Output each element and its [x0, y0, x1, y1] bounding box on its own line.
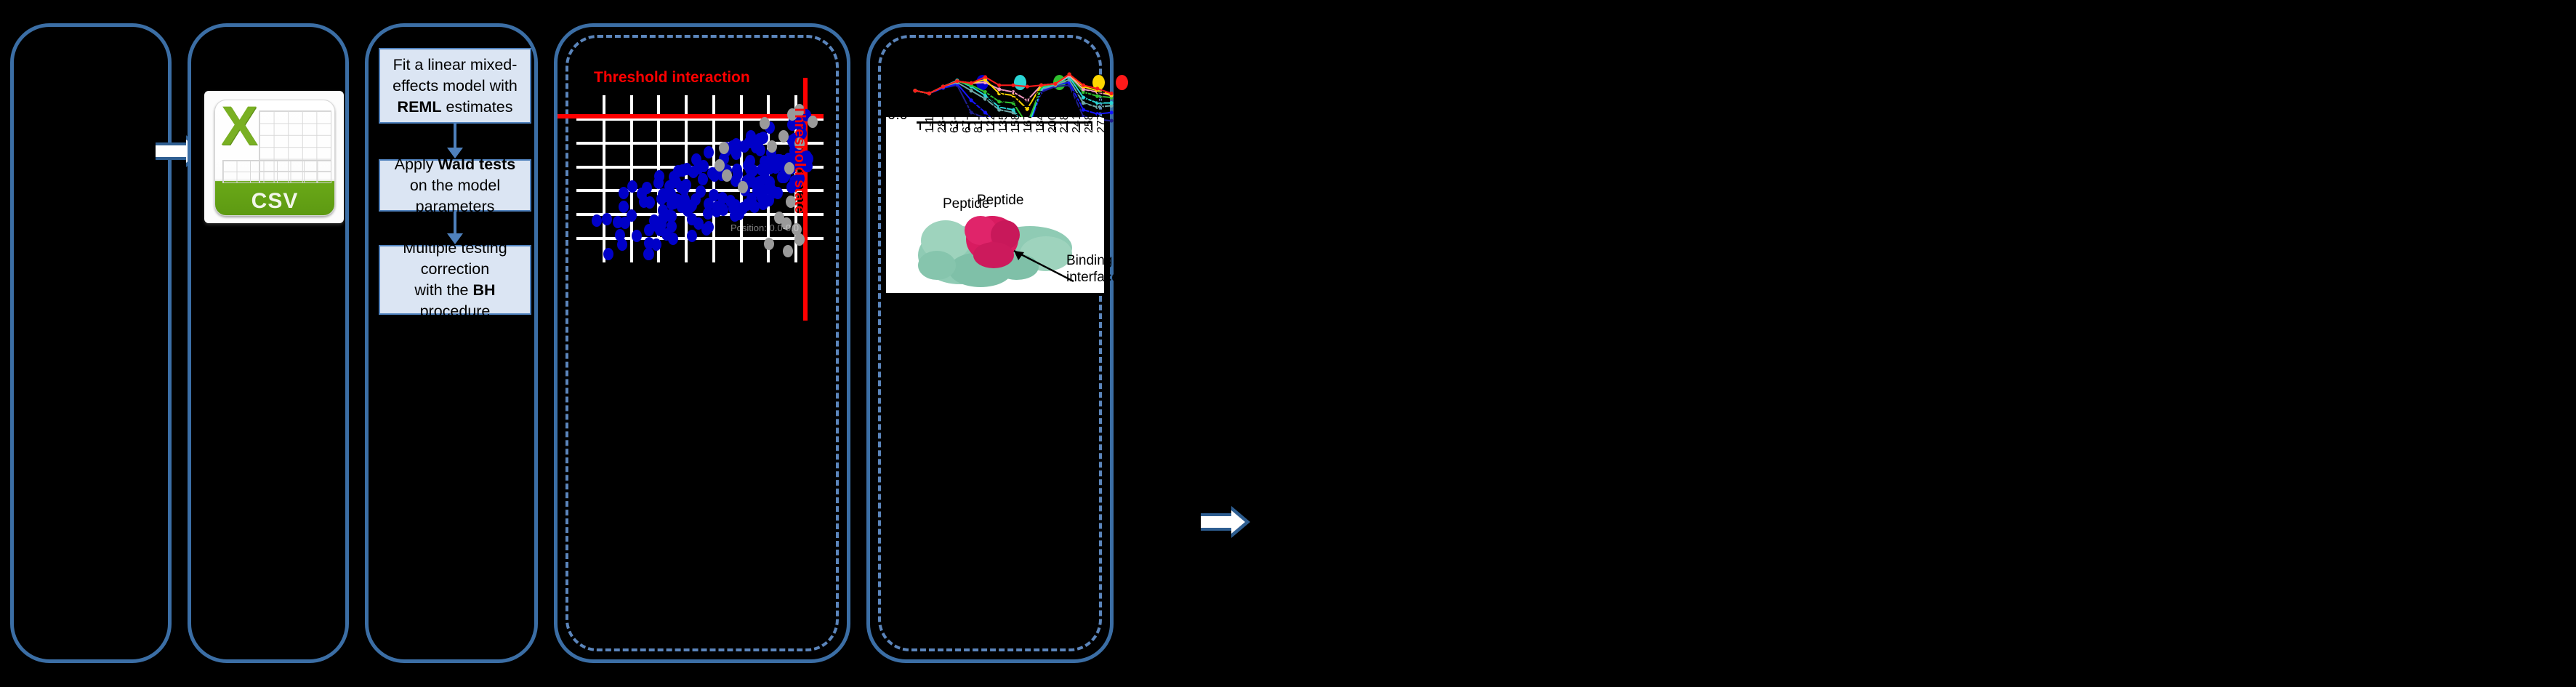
scatter-point-significant: [615, 229, 625, 241]
series-marker: [1026, 84, 1029, 88]
scatter-point-significant: [691, 153, 701, 166]
protein-structure-image: [908, 203, 1082, 290]
scatter-point-significant: [725, 195, 736, 207]
panel-results: 0.0 1-1528-4463-7367-7581-101122-129135-…: [866, 23, 1114, 663]
series-marker: [941, 84, 945, 88]
csv-format-label: CSV: [215, 189, 334, 214]
series-marker: [1109, 111, 1113, 114]
scatter-point-significant: [667, 220, 677, 233]
scatter-point-significant: [749, 201, 760, 213]
series-marker: [1109, 118, 1113, 122]
x-axis-tick-label: 158-166: [1010, 90, 1023, 133]
scatter-point-significant: [676, 181, 686, 193]
scatter-point-significant: [651, 238, 661, 251]
panel-input-data: [10, 23, 172, 663]
series-marker: [1082, 84, 1085, 87]
scatter-point-significant: [656, 193, 667, 205]
grid-line-horizontal: [576, 142, 824, 145]
scatter-point-nonsignificant: [764, 238, 774, 250]
threshold-state-label: Threshold state: [791, 105, 808, 214]
series-marker: [955, 79, 959, 83]
series-marker: [1011, 84, 1015, 87]
x-axis-tick-label: 200-214: [1047, 90, 1060, 133]
scatter-point-nonsignificant: [715, 159, 725, 172]
x-axis-tick-label: 184-199: [1034, 90, 1047, 133]
x-axis-tick-label: 135-144: [997, 90, 1010, 133]
series-marker: [970, 89, 973, 92]
scatter-point-significant: [627, 180, 637, 193]
scatter-point-nonsignificant: [760, 117, 770, 129]
series-marker: [927, 92, 931, 95]
y-axis-zero-label: 0.0: [887, 107, 908, 124]
csv-file-icon: X CSV: [204, 91, 344, 223]
scatter-point-significant: [632, 230, 642, 242]
scatter-point-significant: [653, 177, 664, 189]
scatter-point-significant: [683, 204, 693, 217]
scatter-point-significant: [592, 214, 602, 227]
step-multiple-testing-correction: Multiple testing correctionwith the BH p…: [379, 245, 531, 315]
arrow-shaft: [1201, 513, 1233, 531]
scatter-point-significant: [602, 213, 612, 225]
panel-statistical-analysis: Fit a linear mixed-effects model with RE…: [365, 23, 538, 663]
scatter-point-significant: [642, 182, 652, 194]
series-marker: [1068, 73, 1071, 76]
spreadsheet-grid-lower-icon: [222, 160, 331, 183]
scatter-ghost-label: Position: 0.0-0.0: [730, 222, 799, 233]
grid-line-horizontal: [576, 213, 824, 216]
connector-line-1: [454, 124, 456, 148]
series-marker: [913, 89, 917, 92]
arrow-shaft: [156, 142, 188, 160]
grid-line-vertical: [603, 95, 605, 262]
scatter-point-significant: [712, 201, 723, 213]
x-axis-tick-label: 258-266: [1083, 90, 1096, 133]
scatter-point-significant: [739, 140, 749, 153]
scatter-point-significant: [668, 233, 678, 245]
series-marker: [997, 84, 1001, 87]
panel-csv-file: X CSV: [188, 23, 349, 663]
panel-threshold-scatter: Threshold interaction Position: 0.0-0.0 …: [554, 23, 850, 663]
step-3-text: Multiple testing correctionwith the BH p…: [385, 238, 526, 322]
excel-x-icon: X: [221, 105, 260, 150]
scatter-plot-area: Position: 0.0-0.0: [576, 95, 824, 262]
scatter-point-nonsignificant: [783, 245, 793, 257]
x-axis-tick-label: 63-73: [949, 103, 962, 133]
step-fit-model: Fit a linear mixed-effects model with RE…: [379, 48, 531, 124]
x-axis-tick-label: 277-284: [1095, 90, 1108, 133]
csv-icon-body: X CSV: [214, 100, 335, 216]
x-axis-tick-label: 28-44: [936, 103, 949, 133]
scatter-point-significant: [658, 212, 668, 225]
x-axis-tick-label: 81-101: [973, 97, 986, 133]
step-wald-tests: Apply Wald tests on the model parameters: [379, 159, 531, 212]
x-axis-tick-label: 218-237: [1058, 90, 1071, 133]
series-marker: [1039, 84, 1043, 87]
x-axis-tick-label: 67-75: [961, 103, 974, 133]
scatter-title: Threshold interaction: [594, 69, 750, 87]
scatter-point-significant: [619, 187, 629, 199]
series-marker: [970, 81, 973, 85]
series-marker: [1109, 101, 1113, 105]
scatter-point-nonsignificant: [794, 233, 805, 246]
x-axis-tick-label: 1-15: [924, 110, 937, 133]
scatter-point-significant: [687, 230, 697, 242]
scatter-point-significant: [698, 173, 708, 185]
flow-arrow-3: [1201, 506, 1250, 538]
threshold-line-horizontal: [558, 114, 824, 118]
scatter-point-nonsignificant: [738, 181, 748, 193]
scatter-point-nonsignificant: [808, 116, 818, 128]
scatter-point-significant: [696, 185, 706, 198]
scatter-point-significant: [701, 223, 712, 236]
x-axis-tick-label: 122-129: [985, 90, 998, 133]
binding-interface-label: Binding interface: [1066, 252, 1117, 286]
scatter-point-nonsignificant: [719, 142, 729, 154]
series-marker: [1053, 82, 1057, 86]
scatter-point-significant: [732, 164, 742, 176]
results-inset: 0.0 1-1528-4463-7367-7581-101122-129135-…: [886, 117, 1104, 293]
scatter-point-nonsignificant: [767, 140, 777, 153]
x-axis-tick-label: 167-180: [1022, 90, 1035, 133]
arrow-head-fill: [1231, 510, 1245, 534]
scatter-point-nonsignificant: [778, 130, 789, 142]
scatter-point-significant: [644, 248, 654, 260]
x-axis-tick: [919, 124, 921, 130]
peptide-structure-label: Peptide: [943, 196, 989, 212]
scatter-point-nonsignificant: [722, 169, 732, 182]
scatter-point-significant: [613, 216, 623, 228]
series-marker: [1109, 92, 1113, 95]
legend-dot: [1116, 75, 1128, 90]
x-axis-tick-label: 241-257: [1071, 90, 1084, 133]
connector-line-2: [454, 212, 456, 234]
scatter-point-significant: [603, 248, 613, 260]
step-2-text: Apply Wald tests on the model parameters: [385, 154, 526, 217]
step-1-text: Fit a linear mixed-effects model with RE…: [385, 55, 526, 118]
scatter-point-significant: [765, 162, 775, 174]
series-marker: [983, 75, 987, 79]
grid-line-horizontal: [576, 237, 824, 240]
